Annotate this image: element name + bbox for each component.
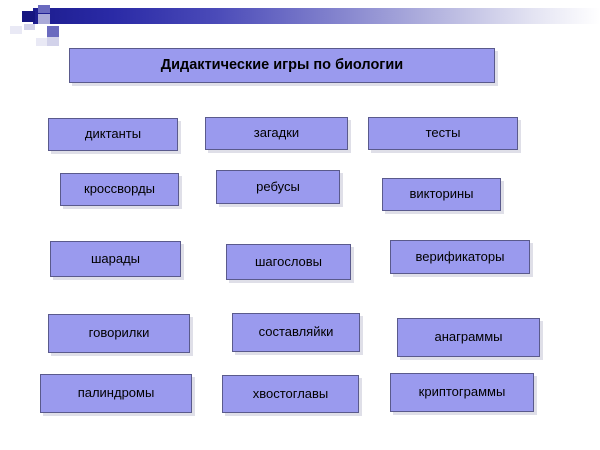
game-type-box[interactable]: хвостоглавы: [222, 375, 359, 413]
game-type-box[interactable]: диктанты: [48, 118, 178, 151]
square-light-icon: [38, 14, 50, 24]
page-title: Дидактические игры по биологии: [69, 48, 495, 83]
square-pale-2-icon: [47, 37, 59, 46]
game-type-box[interactable]: говорилки: [48, 314, 190, 353]
game-type-box[interactable]: криптограммы: [390, 373, 534, 412]
game-type-box[interactable]: ребусы: [216, 170, 340, 204]
square-faint-2-icon: [36, 38, 47, 46]
game-type-box[interactable]: тесты: [368, 117, 518, 150]
gradient-bar-decoration: [33, 8, 600, 24]
square-mid-icon: [38, 5, 50, 13]
game-type-box[interactable]: викторины: [382, 178, 501, 211]
square-dark-icon: [22, 11, 35, 22]
game-type-box[interactable]: составляйки: [232, 313, 360, 352]
game-type-box[interactable]: верификаторы: [390, 240, 530, 274]
game-type-box[interactable]: кроссворды: [60, 173, 179, 206]
slide-canvas: Дидактические игры по биологии диктантыз…: [0, 0, 600, 450]
square-pale-icon: [24, 24, 35, 30]
game-type-box[interactable]: анаграммы: [397, 318, 540, 357]
game-type-box[interactable]: загадки: [205, 117, 348, 150]
game-type-box[interactable]: шарады: [50, 241, 181, 277]
game-type-box[interactable]: шагословы: [226, 244, 351, 280]
square-faint-icon: [10, 26, 22, 34]
square-mid-2-icon: [47, 26, 59, 37]
game-type-box[interactable]: палиндромы: [40, 374, 192, 413]
